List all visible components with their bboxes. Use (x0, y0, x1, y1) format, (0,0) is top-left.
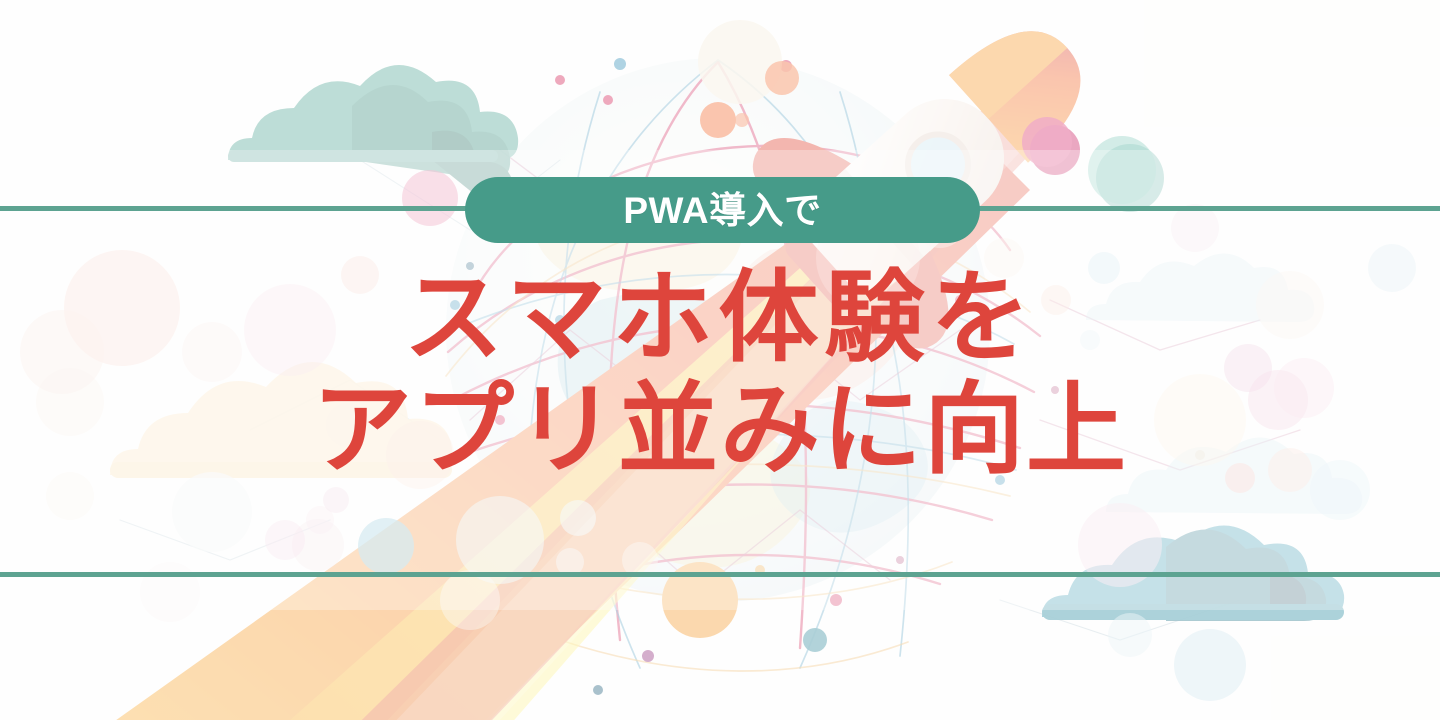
pwa-badge-pill: PWA導入で (465, 177, 980, 243)
headline: スマホ体験を アプリ並みに向上 (0, 262, 1440, 486)
badge-label: PWA導入で (623, 192, 821, 229)
pwa-promo-banner: PWA導入で スマホ体験を アプリ並みに向上 (0, 0, 1440, 720)
headline-line-1: スマホ体験を (0, 262, 1440, 374)
headline-line-2: アプリ並みに向上 (0, 374, 1440, 486)
bottom-divider-rule (0, 572, 1440, 577)
